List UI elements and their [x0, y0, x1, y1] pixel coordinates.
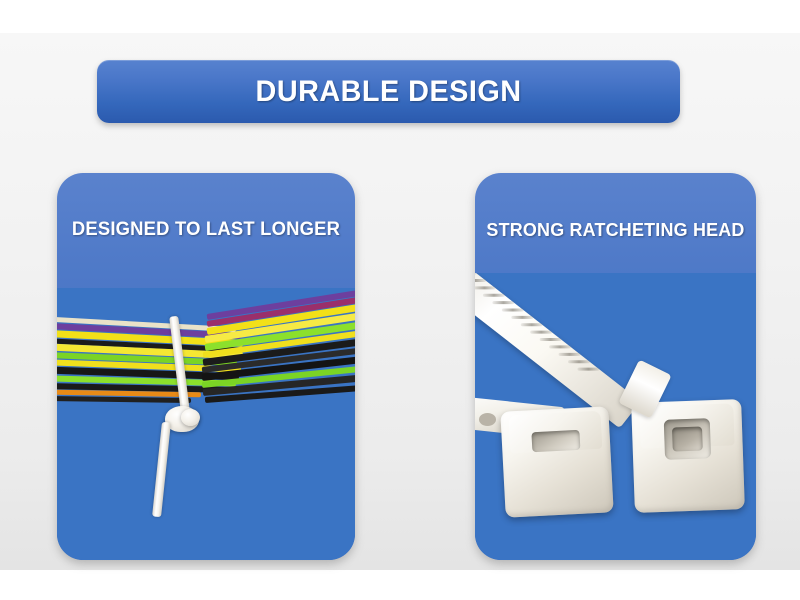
rear-strap-hole — [479, 413, 496, 426]
title-banner: DURABLE DESIGN — [97, 60, 680, 123]
feature-card-designed-to-last-longer: DESIGNED TO LAST LONGER — [57, 173, 355, 560]
feature-card-title-left: DESIGNED TO LAST LONGER — [61, 219, 350, 241]
feature-card-title-right: STRONG RATCHETING HEAD — [479, 219, 752, 241]
page-title: DURABLE DESIGN — [256, 75, 522, 109]
ratcheting-head-left — [500, 406, 613, 518]
background-top-strip — [0, 0, 800, 33]
wire-bundle-photo — [57, 288, 355, 560]
background-bottom-strip — [0, 570, 800, 600]
feature-card-strong-ratcheting-head: STRONG RATCHETING HEAD — [475, 173, 756, 560]
slide-canvas: DURABLE DESIGN DESIGNED TO LAST LONGER — [0, 0, 800, 600]
ratcheting-head-photo — [475, 273, 756, 560]
